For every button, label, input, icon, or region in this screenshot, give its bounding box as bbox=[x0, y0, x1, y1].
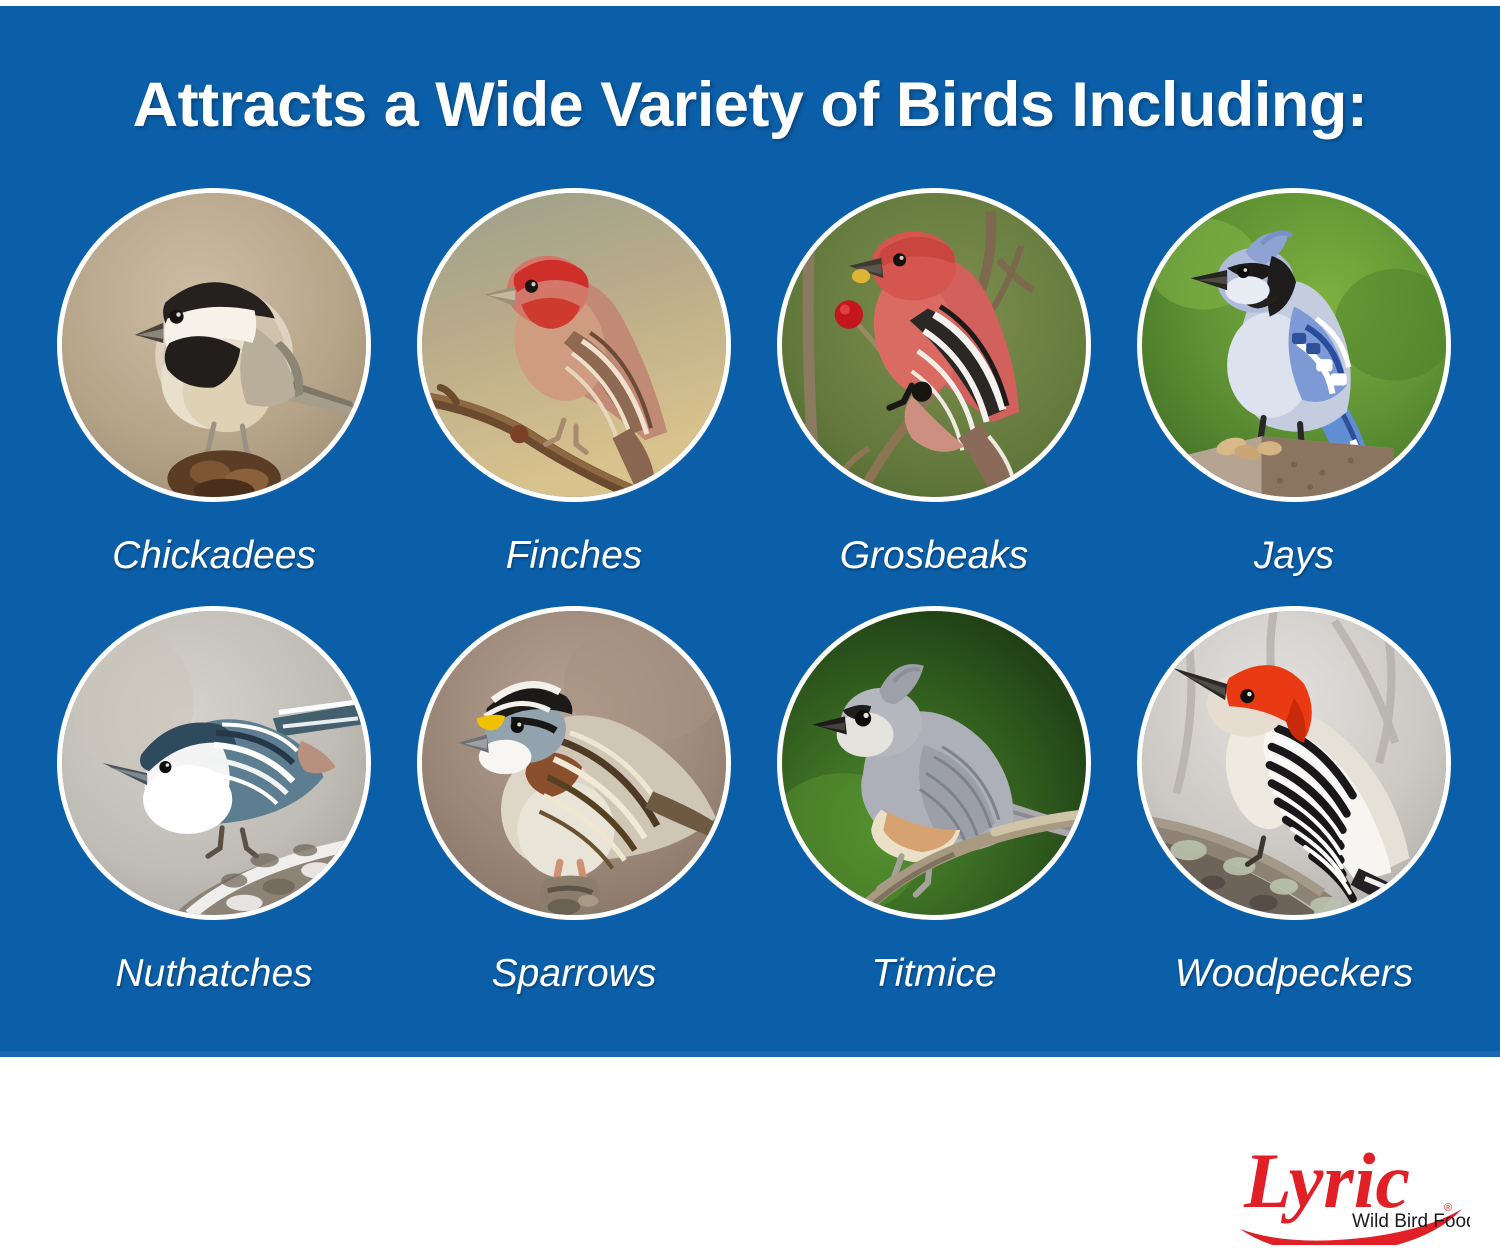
bird-photo-circle-chickadees bbox=[57, 188, 371, 502]
bird-cell-sparrows: Sparrows bbox=[394, 600, 754, 1018]
bird-cell-chickadees: Chickadees bbox=[34, 182, 394, 600]
finch-photo bbox=[422, 193, 726, 497]
lyric-brand-logo: Lyric ® Wild Bird Food bbox=[1230, 1125, 1470, 1245]
bird-label-grosbeaks: Grosbeaks bbox=[840, 534, 1029, 578]
bird-photo-circle-finches bbox=[417, 188, 731, 502]
bird-photo-ring-grosbeaks bbox=[771, 182, 1097, 508]
bird-photo-circle-sparrows bbox=[417, 606, 731, 920]
bird-cell-jays: Jays bbox=[1114, 182, 1474, 600]
woodpecker-photo bbox=[1142, 611, 1446, 915]
logo-tagline: Wild Bird Food bbox=[1352, 1211, 1470, 1232]
sparrow-photo bbox=[422, 611, 726, 915]
bird-photo-circle-woodpeckers bbox=[1137, 606, 1451, 920]
bird-photo-ring-chickadees bbox=[51, 182, 377, 508]
bird-photo-ring-jays bbox=[1131, 182, 1457, 508]
bird-photo-circle-grosbeaks bbox=[777, 188, 1091, 502]
titmouse-photo bbox=[782, 611, 1086, 915]
bird-cell-titmice: Titmice bbox=[754, 600, 1114, 1018]
promo-graphic: Attracts a Wide Variety of Birds Includi… bbox=[0, 0, 1500, 1251]
blue-jay-photo bbox=[1142, 193, 1446, 497]
bird-label-jays: Jays bbox=[1254, 534, 1334, 578]
bird-photo-circle-titmice bbox=[777, 606, 1091, 920]
bird-grid: Chickadees bbox=[34, 182, 1474, 1018]
bird-cell-finches: Finches bbox=[394, 182, 754, 600]
bird-label-woodpeckers: Woodpeckers bbox=[1175, 952, 1413, 996]
panel-bottom-edge bbox=[0, 1051, 1500, 1057]
bird-photo-ring-nuthatches bbox=[51, 600, 377, 926]
bird-label-titmice: Titmice bbox=[871, 952, 996, 996]
grosbeak-photo bbox=[782, 193, 1086, 497]
bird-cell-woodpeckers: Woodpeckers bbox=[1114, 600, 1474, 1018]
bird-photo-ring-woodpeckers bbox=[1131, 600, 1457, 926]
bird-photo-ring-finches bbox=[411, 182, 737, 508]
nuthatch-photo bbox=[62, 611, 366, 915]
chickadee-photo bbox=[62, 193, 366, 497]
page-title: Attracts a Wide Variety of Birds Includi… bbox=[0, 72, 1500, 138]
bird-photo-circle-nuthatches bbox=[57, 606, 371, 920]
bird-cell-grosbeaks: Grosbeaks bbox=[754, 182, 1114, 600]
bird-label-nuthatches: Nuthatches bbox=[115, 952, 312, 996]
bird-photo-circle-jays bbox=[1137, 188, 1451, 502]
bird-label-sparrows: Sparrows bbox=[492, 952, 657, 996]
bird-label-finches: Finches bbox=[506, 534, 643, 578]
bird-photo-ring-titmice bbox=[771, 600, 1097, 926]
bird-cell-nuthatches: Nuthatches bbox=[34, 600, 394, 1018]
bird-label-chickadees: Chickadees bbox=[112, 534, 316, 578]
bird-photo-ring-sparrows bbox=[411, 600, 737, 926]
